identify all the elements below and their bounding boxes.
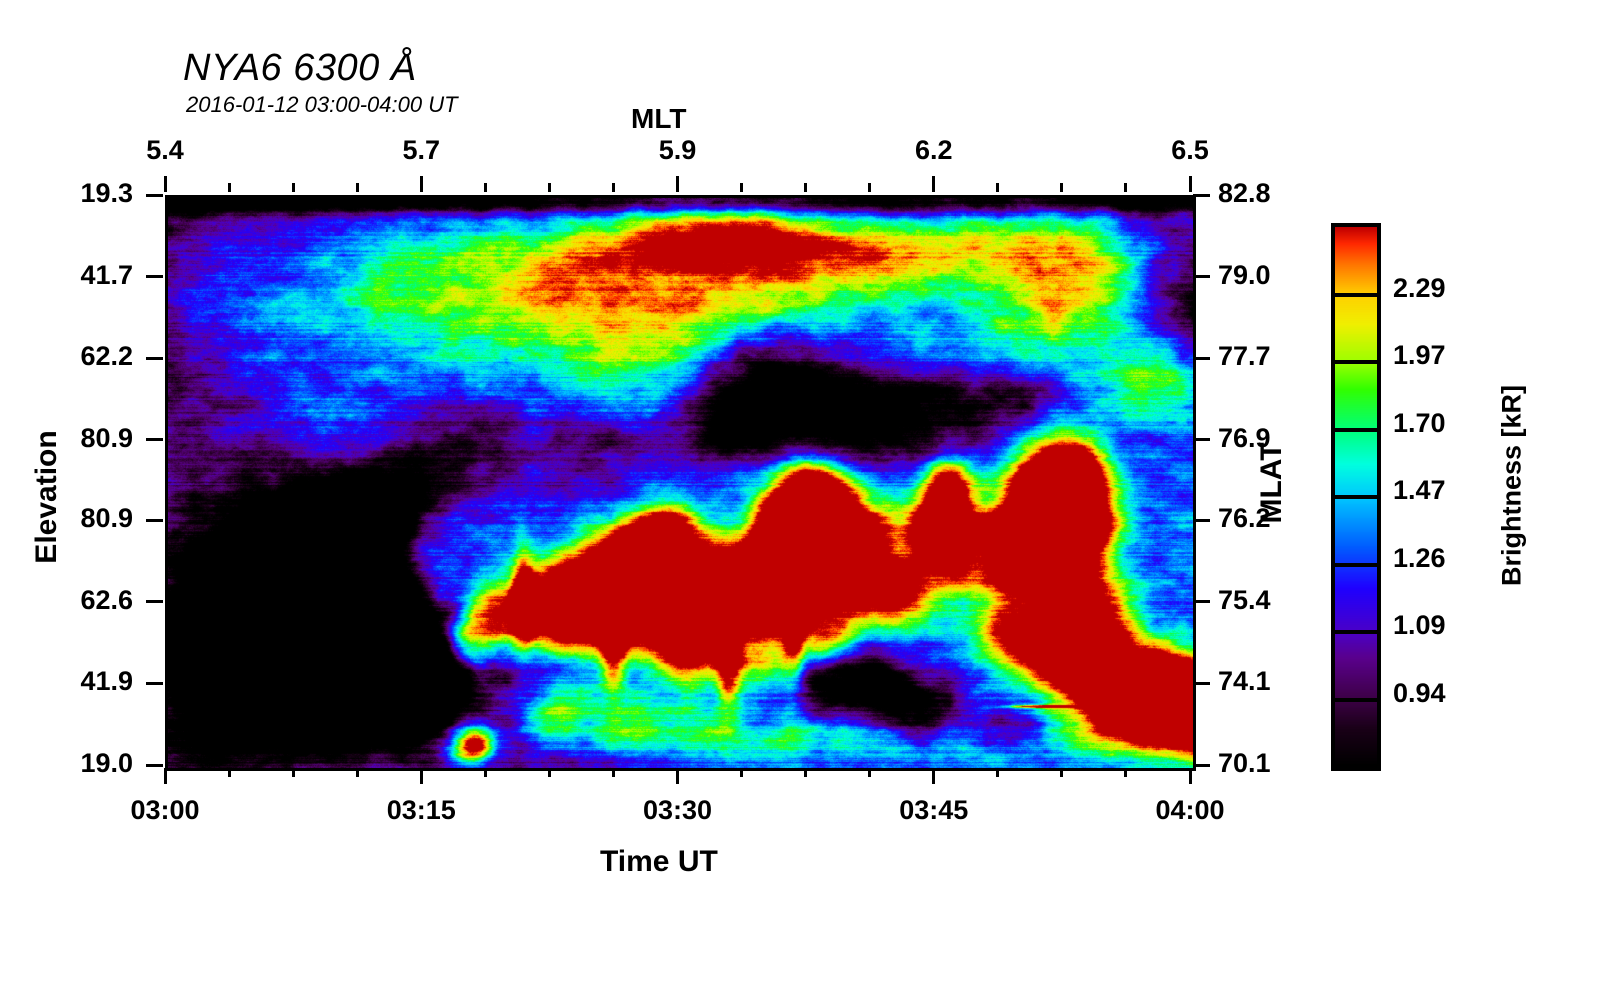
- x-tick-minor: [228, 768, 231, 777]
- y-tick-label: 62.6: [0, 585, 133, 616]
- mlt-tick-major: [932, 176, 935, 192]
- x-tick-minor: [484, 768, 487, 777]
- x-tick-minor: [1124, 768, 1127, 777]
- x-tick-major: [420, 768, 423, 784]
- mlat-tick-major: [1193, 194, 1210, 197]
- mlt-tick-major: [420, 176, 423, 192]
- x-tick-major: [676, 768, 679, 784]
- x-tick-minor: [996, 768, 999, 777]
- x-tick-major: [1189, 768, 1192, 784]
- x-tick-minor: [356, 768, 359, 777]
- mlat-tick-label: 76.9: [1218, 423, 1338, 454]
- y-tick-label: 80.9: [0, 503, 133, 534]
- colorbar: [1331, 223, 1381, 771]
- bottom-axis-title: Time UT: [600, 845, 718, 879]
- mlt-tick-minor: [996, 183, 999, 192]
- x-tick-minor: [740, 768, 743, 777]
- mlt-tick-minor: [292, 183, 295, 192]
- colorbar-divider: [1335, 360, 1377, 364]
- mlat-tick-major: [1193, 600, 1210, 603]
- mlt-tick-minor: [612, 183, 615, 192]
- y-tick-major: [146, 519, 163, 522]
- mlt-tick-minor: [1124, 183, 1127, 192]
- mlat-tick-label: 77.7: [1218, 341, 1338, 372]
- mlt-tick-label: 5.7: [371, 135, 471, 166]
- y-tick-major: [146, 194, 163, 197]
- mlt-tick-label: 5.9: [628, 135, 728, 166]
- mlat-tick-label: 82.8: [1218, 178, 1338, 209]
- colorbar-divider: [1335, 495, 1377, 499]
- y-tick-label: 80.9: [0, 423, 133, 454]
- mlt-tick-minor: [868, 183, 871, 192]
- mlat-tick-major: [1193, 275, 1210, 278]
- colorbar-title: Brightness [kR]: [1497, 346, 1528, 626]
- mlt-tick-major: [1189, 176, 1192, 192]
- colorbar-tick-label: 1.70: [1393, 408, 1446, 439]
- x-tick-minor: [612, 768, 615, 777]
- mlat-tick-major: [1193, 682, 1210, 685]
- y-tick-major: [146, 357, 163, 360]
- mlt-tick-major: [164, 176, 167, 192]
- keogram-image: [168, 198, 1193, 768]
- mlt-tick-minor: [740, 183, 743, 192]
- colorbar-divider: [1335, 563, 1377, 567]
- y-tick-label: 41.7: [0, 260, 133, 291]
- mlat-tick-major: [1193, 357, 1210, 360]
- x-tick-minor: [1060, 768, 1063, 777]
- mlat-tick-label: 74.1: [1218, 666, 1338, 697]
- mlt-tick-label: 6.5: [1140, 135, 1240, 166]
- y-tick-major: [146, 764, 163, 767]
- colorbar-tick-label: 1.97: [1393, 340, 1446, 371]
- y-tick-major: [146, 438, 163, 441]
- x-tick-label: 03:15: [366, 795, 476, 826]
- colorbar-divider: [1335, 293, 1377, 297]
- x-tick-minor: [804, 768, 807, 777]
- mlt-tick-minor: [548, 183, 551, 192]
- x-tick-major: [932, 768, 935, 784]
- keogram-plot-area: [165, 195, 1196, 771]
- y-tick-label: 19.0: [0, 748, 133, 779]
- x-tick-major: [164, 768, 167, 784]
- colorbar-tick-label: 1.09: [1393, 610, 1446, 641]
- mlt-tick-minor: [228, 183, 231, 192]
- mlt-tick-minor: [804, 183, 807, 192]
- mlat-tick-label: 70.1: [1218, 748, 1338, 779]
- top-axis-title: MLT: [631, 103, 686, 135]
- mlt-tick-label: 6.2: [884, 135, 984, 166]
- page-subtitle: 2016-01-12 03:00-04:00 UT: [186, 92, 458, 118]
- y-tick-major: [146, 682, 163, 685]
- mlat-tick-label: 79.0: [1218, 260, 1338, 291]
- mlt-tick-minor: [1060, 183, 1063, 192]
- mlat-tick-label: 76.2: [1218, 503, 1338, 534]
- colorbar-tick-label: 0.94: [1393, 678, 1446, 709]
- mlat-tick-major: [1193, 764, 1210, 767]
- colorbar-tick-label: 1.26: [1393, 543, 1446, 574]
- x-tick-minor: [292, 768, 295, 777]
- y-tick-label: 41.9: [0, 666, 133, 697]
- mlt-tick-minor: [484, 183, 487, 192]
- mlat-tick-major: [1193, 438, 1210, 441]
- y-tick-major: [146, 275, 163, 278]
- y-tick-major: [146, 600, 163, 603]
- x-tick-label: 04:00: [1135, 795, 1245, 826]
- x-tick-minor: [548, 768, 551, 777]
- x-tick-label: 03:00: [110, 795, 220, 826]
- mlt-tick-label: 5.4: [115, 135, 215, 166]
- page-title: NYA6 6300 Å: [183, 47, 417, 90]
- mlat-tick-label: 75.4: [1218, 585, 1338, 616]
- y-tick-label: 19.3: [0, 178, 133, 209]
- colorbar-divider: [1335, 698, 1377, 702]
- y-tick-label: 62.2: [0, 341, 133, 372]
- x-tick-minor: [868, 768, 871, 777]
- colorbar-tick-label: 2.29: [1393, 273, 1446, 304]
- mlt-tick-major: [676, 176, 679, 192]
- colorbar-divider: [1335, 630, 1377, 634]
- mlat-tick-major: [1193, 519, 1210, 522]
- colorbar-divider: [1335, 428, 1377, 432]
- mlt-tick-minor: [356, 183, 359, 192]
- x-tick-label: 03:30: [623, 795, 733, 826]
- colorbar-tick-label: 1.47: [1393, 475, 1446, 506]
- x-tick-label: 03:45: [879, 795, 989, 826]
